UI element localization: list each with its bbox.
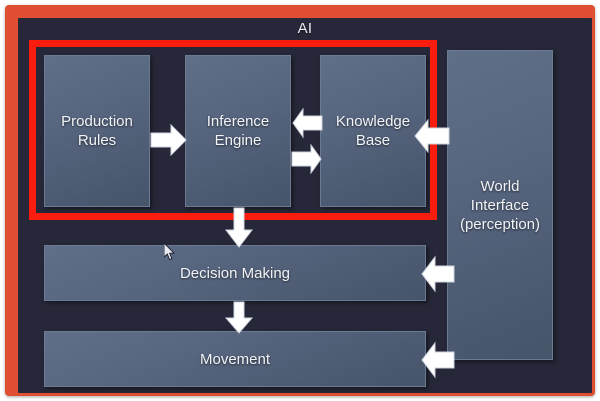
node-movement-label: Movement [196,350,274,369]
arrow-world-to-decision [421,256,455,292]
arrow-world-to-movement [421,342,455,378]
node-inference-engine-label: Inference Engine [203,112,274,150]
node-production-rules-label: Production Rules [57,112,137,150]
mouse-cursor [164,243,176,261]
node-inference-engine-line1: Inference [207,113,270,130]
diagram-canvas: AI Production Rules Inference Engine Kno… [18,18,592,393]
node-world-interface-line1: World [481,178,520,195]
arrow-decision-to-movement [224,302,254,334]
slide-canvas: AI Production Rules Inference Engine Kno… [0,0,600,401]
node-production-rules-line1: Production [61,113,133,130]
node-decision-making[interactable]: Decision Making [44,245,426,301]
node-knowledge-base-label: Knowledge Base [332,112,414,150]
arrow-engine-to-kb [292,144,322,174]
node-knowledge-base-line1: Knowledge [336,113,410,130]
node-production-rules-line2: Rules [78,132,116,149]
node-inference-engine[interactable]: Inference Engine [185,55,291,207]
arrow-world-to-kb [414,119,450,153]
arrow-kb-to-engine [292,108,322,138]
node-decision-making-label: Decision Making [176,264,294,283]
arrow-rules-to-engine [151,124,187,156]
node-knowledge-base-line2: Base [356,132,390,149]
node-world-interface-line3: (perception) [460,216,540,233]
arrow-engine-to-decision [224,208,254,248]
node-movement[interactable]: Movement [44,331,426,387]
node-production-rules[interactable]: Production Rules [44,55,150,207]
page-title: AI [18,19,592,39]
node-knowledge-base[interactable]: Knowledge Base [320,55,426,207]
node-inference-engine-line2: Engine [215,132,262,149]
node-world-interface[interactable]: World Interface (perception) [447,50,553,360]
node-world-interface-line2: Interface [471,197,529,214]
slide-outer-frame: AI Production Rules Inference Engine Kno… [5,5,595,396]
node-world-interface-label: World Interface (perception) [456,177,544,234]
